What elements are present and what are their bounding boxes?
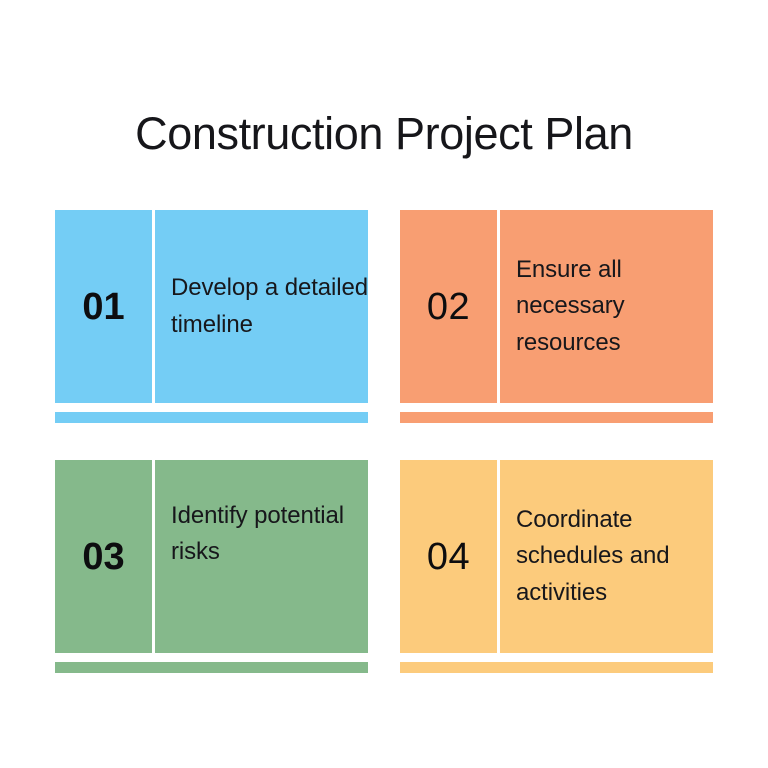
step-card-body: 03 Identify potential risks (55, 460, 368, 653)
step-card-04[interactable]: 04 Coordinate schedules and activities (400, 460, 713, 673)
page-title: Construction Project Plan (0, 108, 768, 160)
step-number-panel: 01 (55, 210, 152, 403)
step-accent-bar (55, 412, 368, 423)
step-description: Ensure all necessary resources (516, 252, 713, 361)
step-accent-bar (55, 662, 368, 673)
step-card-body: 02 Ensure all necessary resources (400, 210, 713, 403)
step-accent-bar (400, 412, 713, 423)
step-number: 02 (427, 288, 470, 326)
step-text-panel: Develop a detailed timeline (155, 210, 368, 403)
step-number: 01 (82, 288, 124, 326)
step-card-02[interactable]: 02 Ensure all necessary resources (400, 210, 713, 423)
step-number-panel: 02 (400, 210, 497, 403)
step-card-body: 01 Develop a detailed timeline (55, 210, 368, 403)
step-description: Coordinate schedules and activities (516, 502, 713, 611)
step-number: 04 (427, 538, 470, 576)
step-number: 03 (82, 538, 124, 576)
step-card-03[interactable]: 03 Identify potential risks (55, 460, 368, 673)
step-accent-bar (400, 662, 713, 673)
step-number-panel: 04 (400, 460, 497, 653)
steps-grid: 01 Develop a detailed timeline 02 Ensure… (55, 210, 713, 673)
step-card-01[interactable]: 01 Develop a detailed timeline (55, 210, 368, 423)
step-text-panel: Coordinate schedules and activities (500, 460, 713, 653)
step-description: Identify potential risks (171, 498, 368, 571)
step-description: Develop a detailed timeline (171, 270, 368, 343)
step-card-body: 04 Coordinate schedules and activities (400, 460, 713, 653)
step-number-panel: 03 (55, 460, 152, 653)
step-text-panel: Identify potential risks (155, 460, 368, 653)
step-text-panel: Ensure all necessary resources (500, 210, 713, 403)
